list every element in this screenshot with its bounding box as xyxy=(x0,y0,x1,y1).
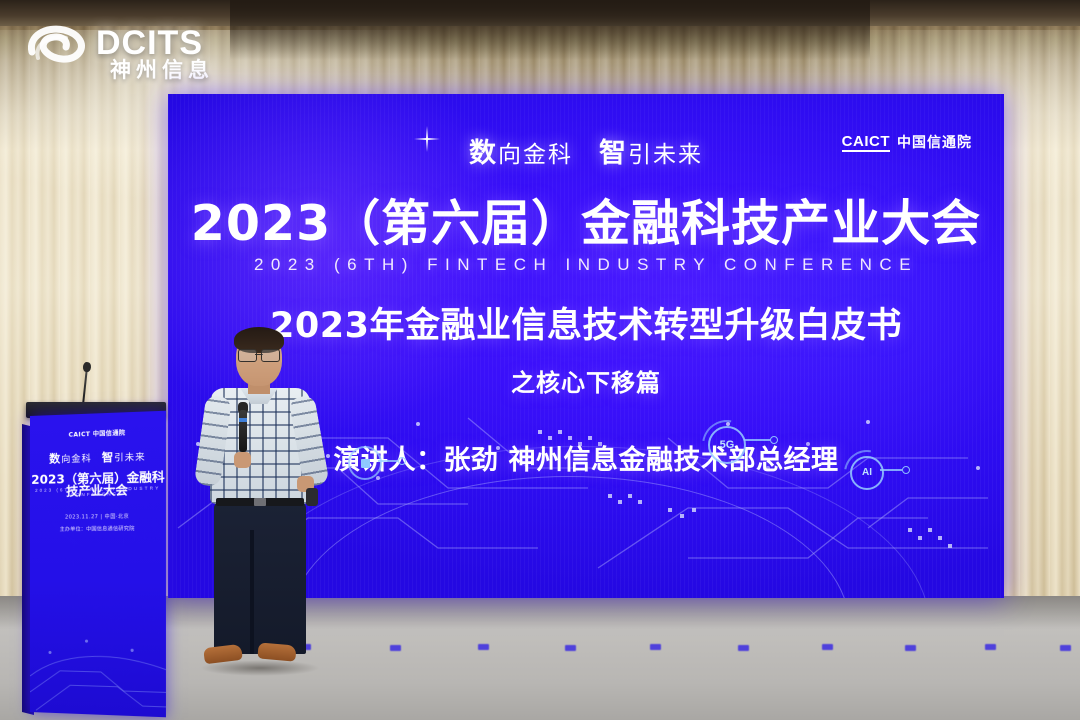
conference-title-en: 2023 (6TH) FINTECH INDUSTRY CONFERENCE xyxy=(168,256,1004,273)
speaker-leg-gap xyxy=(250,530,254,654)
podium-tagline-l1: 向金科 xyxy=(61,454,92,465)
wall-logo-dcits: DCITS 神州信息 xyxy=(24,16,224,86)
microphone-band xyxy=(239,418,247,422)
screen-tagline: 数向金科智引未来 xyxy=(168,140,1004,167)
podium-front-panel: CAICT 中国信通院 数向金科 智引未来 2023（第六届）金融科技产业大会 … xyxy=(30,411,166,718)
floor-reflection xyxy=(565,645,576,651)
podium: CAICT 中国信通院 数向金科 智引未来 2023（第六届）金融科技产业大会 … xyxy=(22,402,172,712)
decor-arc xyxy=(288,476,850,598)
tagline-part1-bold: 数 xyxy=(469,138,498,169)
badge-5g-node xyxy=(770,436,778,444)
speaker-shoe-right xyxy=(257,642,296,661)
podium-organizer-logo: CAICT 中国信通院 xyxy=(30,429,166,440)
handheld-microphone-icon xyxy=(239,410,247,452)
floor-reflection xyxy=(1060,645,1071,651)
tagline-part2-bold: 智 xyxy=(599,138,628,169)
podium-tagline-b1: 数 xyxy=(49,452,61,465)
podium-date-location: 2023.11.27 | 中国·北京 xyxy=(30,512,166,522)
floor-reflection xyxy=(985,644,996,650)
floor-reflection xyxy=(650,644,661,650)
conference-photo-scene: DCITS 神州信息 xyxy=(0,0,1080,720)
swoosh-icon xyxy=(24,22,90,74)
podium-tagline-l2: 引未来 xyxy=(114,453,145,464)
tagline-part1-light: 向金科 xyxy=(498,142,573,168)
podium-host: 主办单位：中国信息通信研究院 xyxy=(30,525,166,535)
badge-ai-node xyxy=(902,466,910,474)
floor-reflection xyxy=(478,644,489,650)
wall-logo-brand-cn: 神州信息 xyxy=(110,60,214,81)
badge-chip-node xyxy=(398,457,406,465)
podium-title-en: 2023 (6TH) FINTECH INDUSTRY CONFERENCE xyxy=(30,486,166,498)
eyeglasses-icon xyxy=(238,349,280,360)
speaker-belt-buckle xyxy=(254,498,266,506)
podium-tagline-b2: 智 xyxy=(102,451,114,465)
speaker-hand-left xyxy=(234,452,251,468)
floor-reflection xyxy=(905,645,916,651)
badge-chip-wire xyxy=(378,460,398,462)
podium-tagline: 数向金科 智引未来 xyxy=(30,450,166,466)
floor-reflection xyxy=(738,645,749,651)
badge-chip-icon xyxy=(348,446,382,480)
podium-decor-lines xyxy=(30,622,166,717)
conference-title-cn: 2023（第六届）金融科技产业大会 xyxy=(168,198,1004,249)
tagline-part2-light: 引未来 xyxy=(628,142,703,168)
ceiling-shadow xyxy=(230,0,870,60)
speaker-trousers xyxy=(214,502,306,654)
wall-logo-brand-en: DCITS xyxy=(96,26,203,60)
floor-reflection xyxy=(822,644,833,650)
presentation-clicker-icon xyxy=(306,488,318,506)
floor-reflection xyxy=(390,645,401,651)
speaker-person xyxy=(196,330,324,688)
